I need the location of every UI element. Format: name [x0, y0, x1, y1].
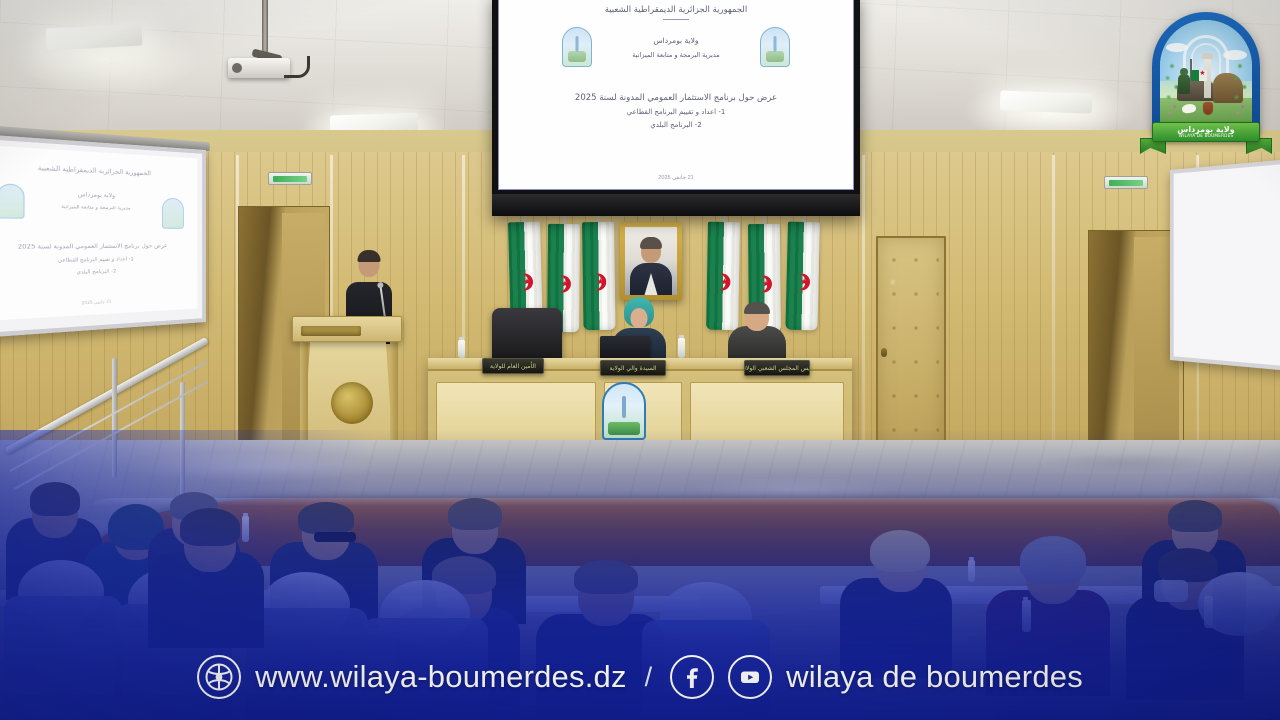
screenshot-root: الجمهورية الجزائرية الديمقراطية الشعبية … [0, 0, 1280, 720]
speaker-hair [358, 250, 381, 262]
main-projection-screen: الجمهورية الجزائرية الديمقراطية الشعبية … [492, 0, 860, 216]
emblem-cloud-2 [1223, 50, 1247, 60]
left-slide-item2: 2- البرنامج البلدي [0, 267, 197, 279]
social-handle[interactable]: wilaya de boumerdes [786, 659, 1083, 695]
slide-crest-row: ولاية بومرداس مديرية البرمجة و متابعة ال… [515, 27, 837, 67]
left-screen-image: الجمهورية الجزائرية الديمقراطية الشعبية … [0, 145, 197, 322]
right-projection-screen [1170, 159, 1280, 372]
flag-emblem-3: ★ [590, 273, 608, 291]
presidential-portrait-frame [620, 222, 682, 300]
slide-header: الجمهورية الجزائرية الديمقراطية الشعبية [605, 5, 748, 15]
podium-label-plate [301, 326, 361, 336]
slide-crest-left-detail [576, 36, 579, 52]
left-slide-crest-2 [162, 198, 184, 229]
emblem-banner-french: WILAYA DE BOUMERDES [1179, 134, 1234, 138]
presidential-portrait-image [625, 227, 677, 295]
flag-star-glyph-2: ★ [561, 280, 569, 289]
dribbble-icon[interactable] [197, 655, 241, 699]
left-slide-item1: 1- اعداد و تقييم البرنامج القطاعي [0, 256, 197, 266]
slide-crest-left [562, 27, 592, 67]
slide-item-1: 1- اعداد و تقييم البرنامج القطاعي [627, 108, 726, 116]
dais-crest-detail [622, 396, 626, 418]
nameplate-left: الأمين العام للولاية [482, 358, 544, 374]
algeria-flag-6: ★ [785, 222, 820, 331]
flag-emblem-1: ★ [516, 273, 534, 291]
slide-crest-right [760, 27, 790, 67]
podium-emblem [331, 382, 373, 424]
left-screen-board: الجمهورية الجزائرية الديمقراطية الشعبية … [0, 133, 206, 339]
flag-emblem-6: ★ [793, 273, 811, 291]
door-tufting-1 [883, 243, 939, 453]
slide-body: عرض حول برنامج الاستثمار العمومي المدونة… [515, 93, 837, 129]
projector-lens [232, 63, 242, 73]
door-right-1[interactable] [876, 236, 946, 460]
slide-title: عرض حول برنامج الاستثمار العمومي المدونة… [575, 93, 777, 103]
flag-emblem-2: ★ [554, 275, 572, 293]
exit-sign-right [1104, 176, 1148, 189]
official-right-hair [744, 302, 770, 314]
nameplate-right-text: رئيس المجلس الشعبي الولائي [744, 365, 810, 372]
youtube-icon[interactable] [728, 655, 772, 699]
flag-star-glyph-1: ★ [523, 278, 531, 287]
official-center-face-front [631, 308, 648, 328]
footer-banner: www.wilaya-boumerdes.dz / wilaya de boum… [0, 634, 1280, 720]
slide-item-2: 2- البرنامج البلدي [650, 121, 702, 129]
emblem-foliage-right [1229, 60, 1251, 119]
footer-separator: / [645, 662, 653, 693]
official-right-body [728, 326, 786, 362]
emblem-shield [1152, 12, 1260, 134]
flag-emblem-5: ★ [755, 275, 773, 293]
emblem-algeria-flag [1191, 70, 1207, 81]
slide-date: 21 جانفي 2025 [499, 175, 853, 181]
wall-seam-4 [862, 155, 865, 460]
left-projection-screen: الجمهورية الجزائرية الديمقراطية الشعبية … [0, 133, 206, 339]
portrait-hair [640, 237, 662, 249]
slide-sub1: ولاية بومرداس [653, 36, 698, 45]
slide-crest-right-detail [773, 36, 776, 52]
official-right [728, 304, 786, 362]
left-slide-header: الجمهورية الجزائرية الديمقراطية الشعبية [0, 161, 197, 179]
nameplate-center-text: السيدة والي الولاية [609, 365, 656, 372]
main-screen-surface: الجمهورية الجزائرية الديمقراطية الشعبية … [498, 0, 854, 190]
left-slide-sub1: ولاية بومرداس [0, 189, 197, 202]
wall-seam-5 [1052, 155, 1055, 460]
emblem-foliage-left [1161, 60, 1183, 119]
nameplate-left-text: الأمين العام للولاية [490, 363, 536, 370]
emblem-scene [1160, 20, 1252, 126]
slide-sub2: مديرية البرمجة و متابعة الميزانية [632, 51, 720, 59]
door-knob-1[interactable] [881, 348, 887, 357]
facebook-icon[interactable] [670, 655, 714, 699]
water-bottle-dais-1 [678, 338, 685, 358]
exit-sign-left [268, 172, 312, 185]
ceiling-projector [228, 58, 290, 78]
flag-star-glyph-3: ★ [596, 278, 604, 287]
wilaya-boumerdes-emblem: ولاية بومرداس WILAYA DE BOUMERDES [1138, 8, 1274, 166]
slide-divider [663, 19, 689, 20]
left-slide-date: 21 جانفي 2025 [0, 294, 197, 310]
algeria-flag-3: ★ [582, 222, 616, 330]
flag-star-glyph-4: ★ [720, 278, 728, 287]
flag-emblem-4: ★ [714, 273, 732, 291]
water-bottle-dais-2 [458, 340, 465, 358]
podium-lectern-top [292, 316, 402, 342]
flag-star-glyph-5: ★ [762, 280, 770, 289]
flag-star-glyph-6: ★ [800, 278, 808, 287]
slide-org-block: ولاية بومرداس مديرية البرمجة و متابعة ال… [632, 36, 720, 59]
screen-housing-bar [492, 194, 860, 216]
left-slide-title: عرض حول برنامج الاستثمار العمومي المدونة… [0, 243, 197, 251]
projector-cable [284, 56, 310, 78]
website-url[interactable]: www.wilaya-boumerdes.dz [255, 659, 627, 695]
emblem-banner: ولاية بومرداس WILAYA DE BOUMERDES [1140, 120, 1272, 160]
presentation-slide: الجمهورية الجزائرية الديمقراطية الشعبية … [499, 0, 853, 189]
nameplate-center: السيدة والي الولاية [600, 360, 666, 376]
emblem-ribbon: ولاية بومرداس WILAYA DE BOUMERDES [1152, 122, 1260, 142]
ceiling-panel-light-3 [1000, 90, 1093, 113]
nameplate-right: رئيس المجلس الشعبي الولائي [744, 360, 810, 376]
bottle-cap-2 [459, 337, 464, 340]
dais-chair-left[interactable] [492, 308, 562, 364]
bottle-cap-1 [679, 335, 684, 338]
